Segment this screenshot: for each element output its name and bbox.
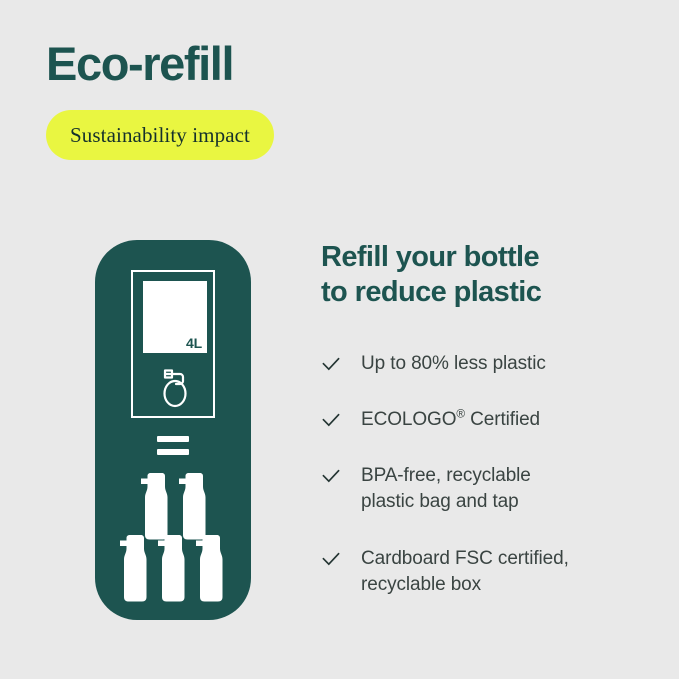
spray-bottle-row-top xyxy=(138,472,209,542)
list-item-text: Up to 80% less plastic xyxy=(361,351,546,377)
eco-refill-infographic: Eco-refill Sustainability impact 4L xyxy=(0,0,679,679)
content-heading-line-2: to reduce plastic xyxy=(321,275,651,310)
list-item-line-1: Up to 80% less plastic xyxy=(361,351,546,377)
spray-bottle-icon xyxy=(117,534,150,604)
list-item: BPA-free, recyclable plastic bag and tap xyxy=(321,463,651,515)
tap-spigot-icon xyxy=(153,364,197,410)
list-item: Up to 80% less plastic xyxy=(321,351,651,377)
spray-bottle-row-bottom xyxy=(117,534,226,604)
check-icon xyxy=(321,549,341,569)
list-item-line-1: BPA-free, recyclable xyxy=(361,463,531,489)
page-title: Eco-refill xyxy=(46,38,233,91)
content-heading: Refill your bottle to reduce plastic xyxy=(321,240,651,311)
ecologo-word: ECOLOGO xyxy=(361,409,456,430)
carton-label-area: 4L xyxy=(143,281,207,353)
spray-bottle-icon xyxy=(138,472,171,542)
list-item: ECOLOGO® Certified xyxy=(321,407,651,433)
spray-bottle-icon xyxy=(155,534,188,604)
list-item-text: ECOLOGO® Certified xyxy=(361,407,540,433)
list-item-line-2: recyclable box xyxy=(361,572,569,598)
check-icon xyxy=(321,354,341,374)
content-column: Refill your bottle to reduce plastic Up … xyxy=(321,240,651,598)
status-badge-label: Sustainability impact xyxy=(70,123,250,148)
refill-carton-outline: 4L xyxy=(131,270,215,418)
check-icon xyxy=(321,466,341,486)
list-item-text: BPA-free, recyclable plastic bag and tap xyxy=(361,463,531,515)
list-item: Cardboard FSC certified, recyclable box xyxy=(321,546,651,598)
certified-word: Certified xyxy=(465,409,540,430)
equals-bar-top xyxy=(157,436,189,442)
carton-volume-label: 4L xyxy=(186,336,202,350)
list-item-line-1: ECOLOGO® Certified xyxy=(361,407,540,433)
content-heading-line-1: Refill your bottle xyxy=(321,240,651,275)
refill-illustration-panel: 4L xyxy=(95,240,251,620)
spray-bottle-icon xyxy=(176,472,209,542)
list-item-line-2: plastic bag and tap xyxy=(361,489,531,515)
spray-bottle-icon xyxy=(193,534,226,604)
equals-sign-icon xyxy=(157,436,189,458)
registered-mark: ® xyxy=(456,408,465,421)
list-item-line-1: Cardboard FSC certified, xyxy=(361,546,569,572)
check-icon xyxy=(321,410,341,430)
feature-list: Up to 80% less plastic ECOLOGO® Certifie… xyxy=(321,351,651,598)
status-badge: Sustainability impact xyxy=(46,110,274,160)
list-item-text: Cardboard FSC certified, recyclable box xyxy=(361,546,569,598)
equals-bar-bottom xyxy=(157,449,189,455)
spray-bottles-group xyxy=(95,472,251,612)
